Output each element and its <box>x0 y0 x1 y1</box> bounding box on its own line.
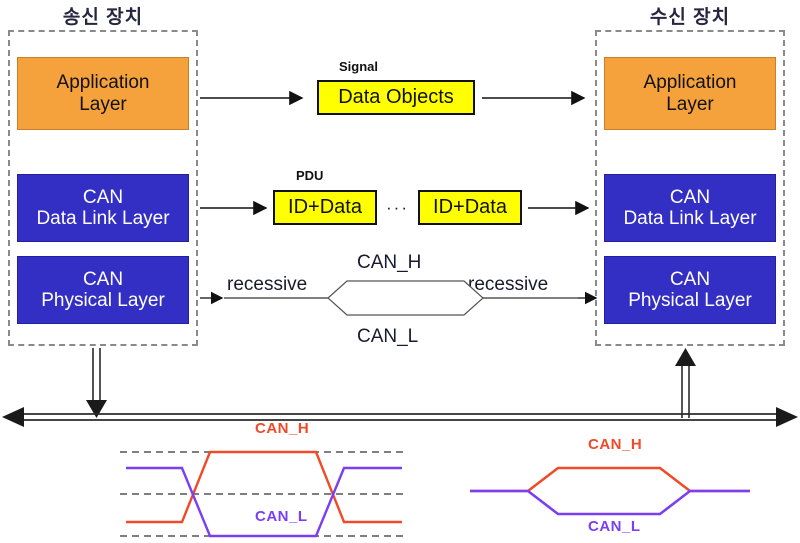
layer-line2: Data Link Layer <box>623 208 756 229</box>
pdu-caption: PDU <box>296 168 323 183</box>
data-objects-label: Data Objects <box>338 86 454 109</box>
layer-line1: CAN <box>83 269 123 290</box>
pdu-box-left[interactable]: ID+Data <box>273 190 377 225</box>
signal-caption: Signal <box>339 59 378 74</box>
layer-line1: Application <box>57 72 150 93</box>
can-h-label-middle: CAN_H <box>357 252 421 274</box>
transmitter-physical-layer[interactable]: CAN Physical Layer <box>17 256 189 324</box>
layer-line1: CAN <box>670 269 710 290</box>
bus-drop-transmitter <box>86 348 107 418</box>
layer-line2: Data Link Layer <box>36 208 169 229</box>
layer-line2: Layer <box>79 94 127 115</box>
receiver-physical-layer[interactable]: CAN Physical Layer <box>604 256 776 324</box>
receiver-application-layer[interactable]: Application Layer <box>604 57 776 130</box>
waveform-right-can-l-trace <box>470 491 750 514</box>
waveform-right-can-h-trace <box>470 468 750 491</box>
pdu-ellipsis: ··· <box>386 198 409 218</box>
layer-line2: Physical Layer <box>41 290 165 311</box>
waveform-left-can-h-label: CAN_H <box>255 420 309 437</box>
can-bus <box>0 348 800 426</box>
data-objects-box[interactable]: Data Objects <box>317 80 475 115</box>
pdu-arrow-left <box>200 198 280 218</box>
bus-horizontal-line <box>2 407 798 427</box>
signal-arrow-right <box>482 88 594 108</box>
layer-line2: Physical Layer <box>628 290 752 311</box>
receiver-data-link-layer[interactable]: CAN Data Link Layer <box>604 174 776 242</box>
waveform-left-can-l-trace <box>126 468 402 536</box>
pdu-arrow-right <box>528 198 598 218</box>
bus-riser-receiver <box>675 348 696 418</box>
waveform-right-can-l-label: CAN_L <box>588 518 641 535</box>
transmitter-application-layer[interactable]: Application Layer <box>17 57 189 130</box>
waveform-left-can-l-label: CAN_L <box>255 508 308 525</box>
layer-line1: Application <box>644 72 737 93</box>
pdu-right-label: ID+Data <box>433 196 507 219</box>
layer-line1: CAN <box>670 187 710 208</box>
waveform-right-can-h-label: CAN_H <box>588 436 642 453</box>
pdu-box-right[interactable]: ID+Data <box>418 190 522 225</box>
layer-line2: Layer <box>666 94 714 115</box>
signal-arrow-left <box>200 88 312 108</box>
receiver-title: 수신 장치 <box>595 2 785 29</box>
pdu-left-label: ID+Data <box>288 196 362 219</box>
transmitter-data-link-layer[interactable]: CAN Data Link Layer <box>17 174 189 242</box>
can-l-label-middle: CAN_L <box>357 326 418 348</box>
transmitter-title: 송신 장치 <box>8 2 198 29</box>
bus-state-hexagon <box>200 272 600 318</box>
layer-line1: CAN <box>83 187 123 208</box>
